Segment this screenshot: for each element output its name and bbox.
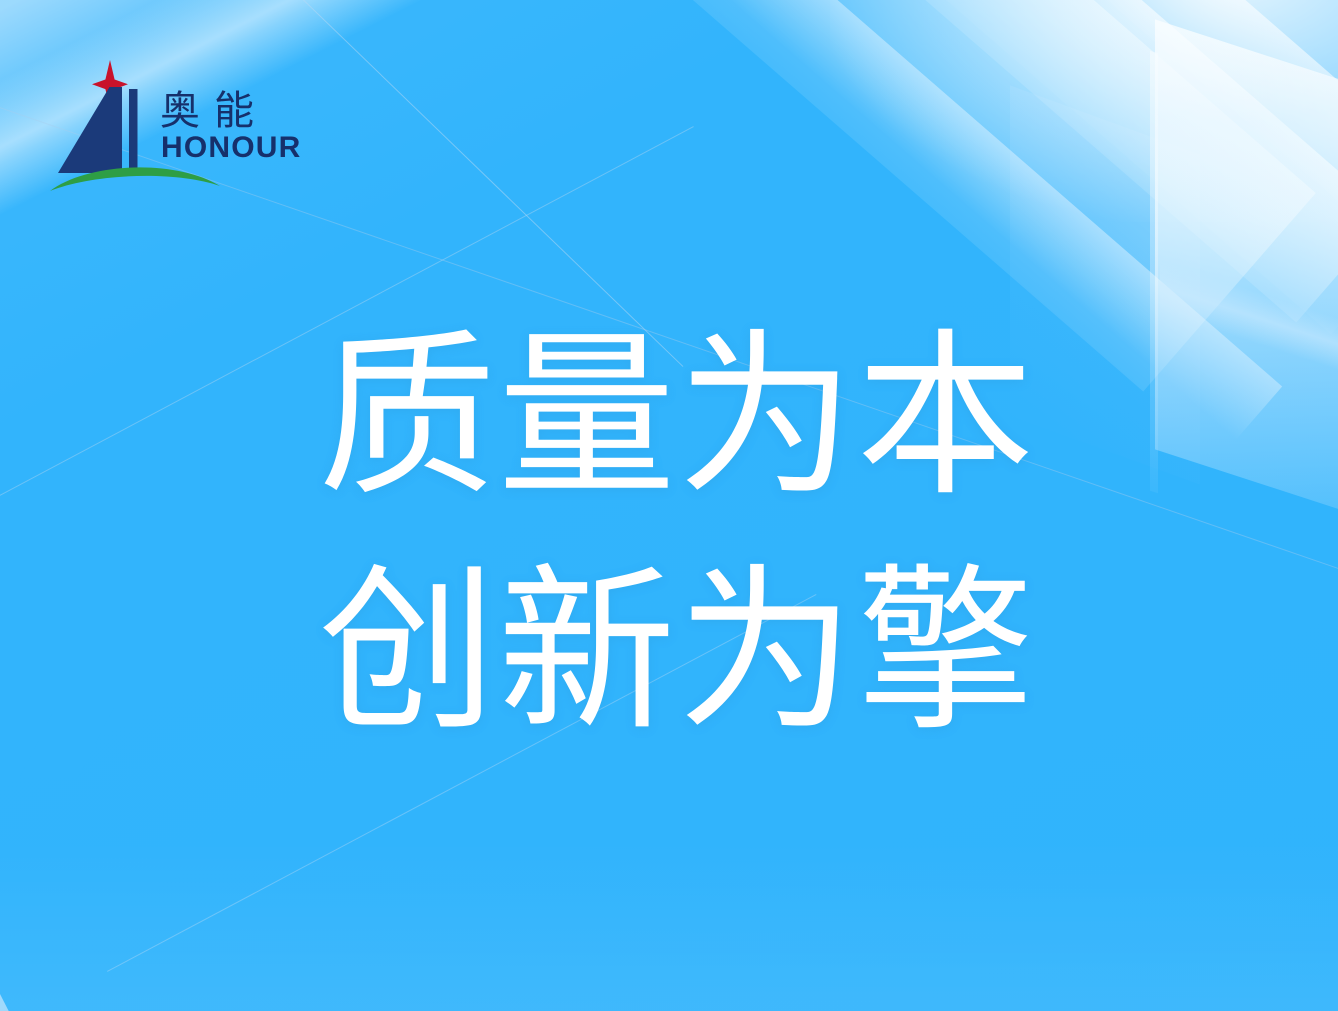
headline-line-2: 创新为擎 [0,535,1338,770]
brand-slide: 奥能 HONOUR 质量为本 创新为擎 [0,0,1338,1011]
background-glow-top-right [830,0,1338,222]
background-bottom-lift [0,841,1338,1011]
logo-chinese-name: 奥能 [160,88,268,134]
honour-a-mark-icon [58,87,138,173]
headline-slogan: 质量为本 创新为擎 [0,300,1338,770]
headline-line-1: 质量为本 [0,300,1338,535]
company-logo: 奥能 HONOUR [48,52,318,202]
logo-latin-name: HONOUR [161,131,302,164]
